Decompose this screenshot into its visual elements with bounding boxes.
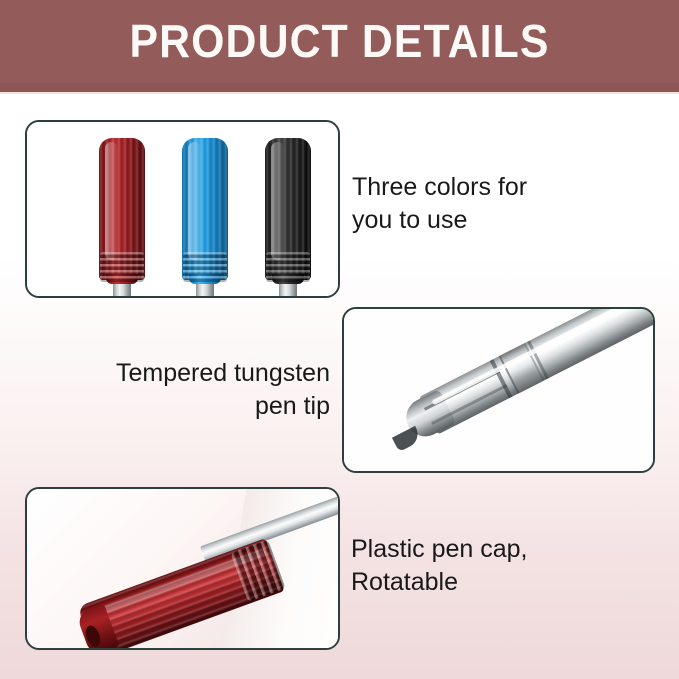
feature-caption-pen-tip: Tempered tungsten pen tip (30, 357, 330, 423)
banner-accent-strip (0, 83, 679, 92)
cap-highlight (105, 142, 118, 260)
feature-image-pen-cap (25, 487, 340, 650)
pen-cap-black (265, 137, 311, 298)
barrel-highlight (431, 307, 655, 405)
cap-threads (100, 252, 144, 282)
banner-divider (0, 92, 679, 94)
product-details-page: PRODUCT DETAILS (0, 0, 679, 679)
cap-threads (183, 252, 227, 282)
cap-highlight (188, 142, 201, 260)
feature-image-three-colors (25, 120, 340, 298)
cap-highlight (271, 142, 284, 260)
pen-cap-blue (182, 137, 228, 298)
header-banner: PRODUCT DETAILS (0, 0, 679, 92)
pen-barrel (418, 307, 655, 435)
pen-tip-photo (344, 309, 653, 471)
three-caps-photo (27, 122, 338, 296)
red-cap-photo (27, 489, 338, 648)
cap-opening (83, 624, 103, 649)
feature-caption-three-colors: Three colors for you to use (352, 171, 632, 237)
page-title: PRODUCT DETAILS (24, 0, 655, 83)
feature-image-pen-tip (342, 307, 655, 473)
tip-shadow (392, 426, 422, 452)
feature-caption-pen-cap: Plastic pen cap, Rotatable (351, 533, 651, 599)
pen-cap-red (99, 137, 145, 298)
cap-threads (266, 252, 310, 282)
